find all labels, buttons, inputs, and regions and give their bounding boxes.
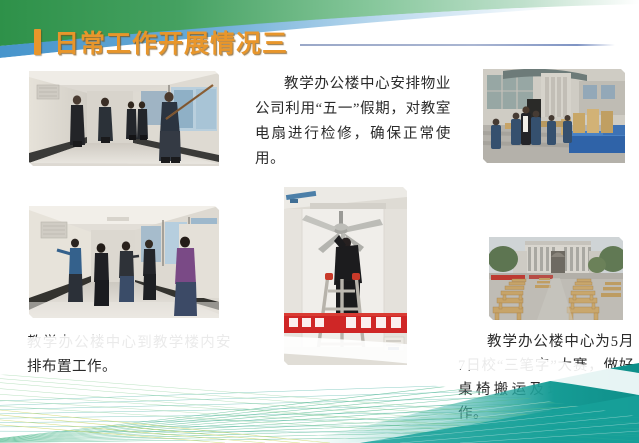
title-bar-icon: [34, 29, 41, 55]
page-title: 日常工作开展情况三: [54, 24, 288, 60]
title-divider: [300, 44, 615, 46]
photo-outdoor-desks-plaza: [484, 232, 628, 325]
photo-outdoor-desks-plaza-image: [489, 237, 623, 320]
photo-loading-desks-truck-image: [483, 69, 625, 163]
slide-title-row: 日常工作开展情况三: [34, 25, 615, 59]
photo-corridor-meeting: [24, 201, 224, 323]
caption-left: 教学办公楼中心到教学楼内安排布置工作。: [27, 331, 231, 379]
photo-loading-desks-truck: [478, 64, 630, 168]
slide-canvas: 日常工作开展情况三: [0, 0, 639, 443]
caption-right: 教学办公楼中心为5月7日校“三笔字”大赛，做好桌椅搬运及现场布置工作。: [458, 330, 634, 426]
photo-corridor-inspection-image: [29, 71, 219, 166]
fan-repair-paragraph: 教学办公楼中心安排物业公司利用“五一”假期，对教室电扇进行检修，确保正常使用。: [255, 72, 451, 172]
photo-corridor-meeting-image: [29, 206, 219, 318]
photo-ceiling-fan-ladder-image: [284, 187, 407, 365]
photo-ceiling-fan-ladder: [279, 182, 412, 370]
photo-corridor-inspection: [24, 66, 224, 171]
